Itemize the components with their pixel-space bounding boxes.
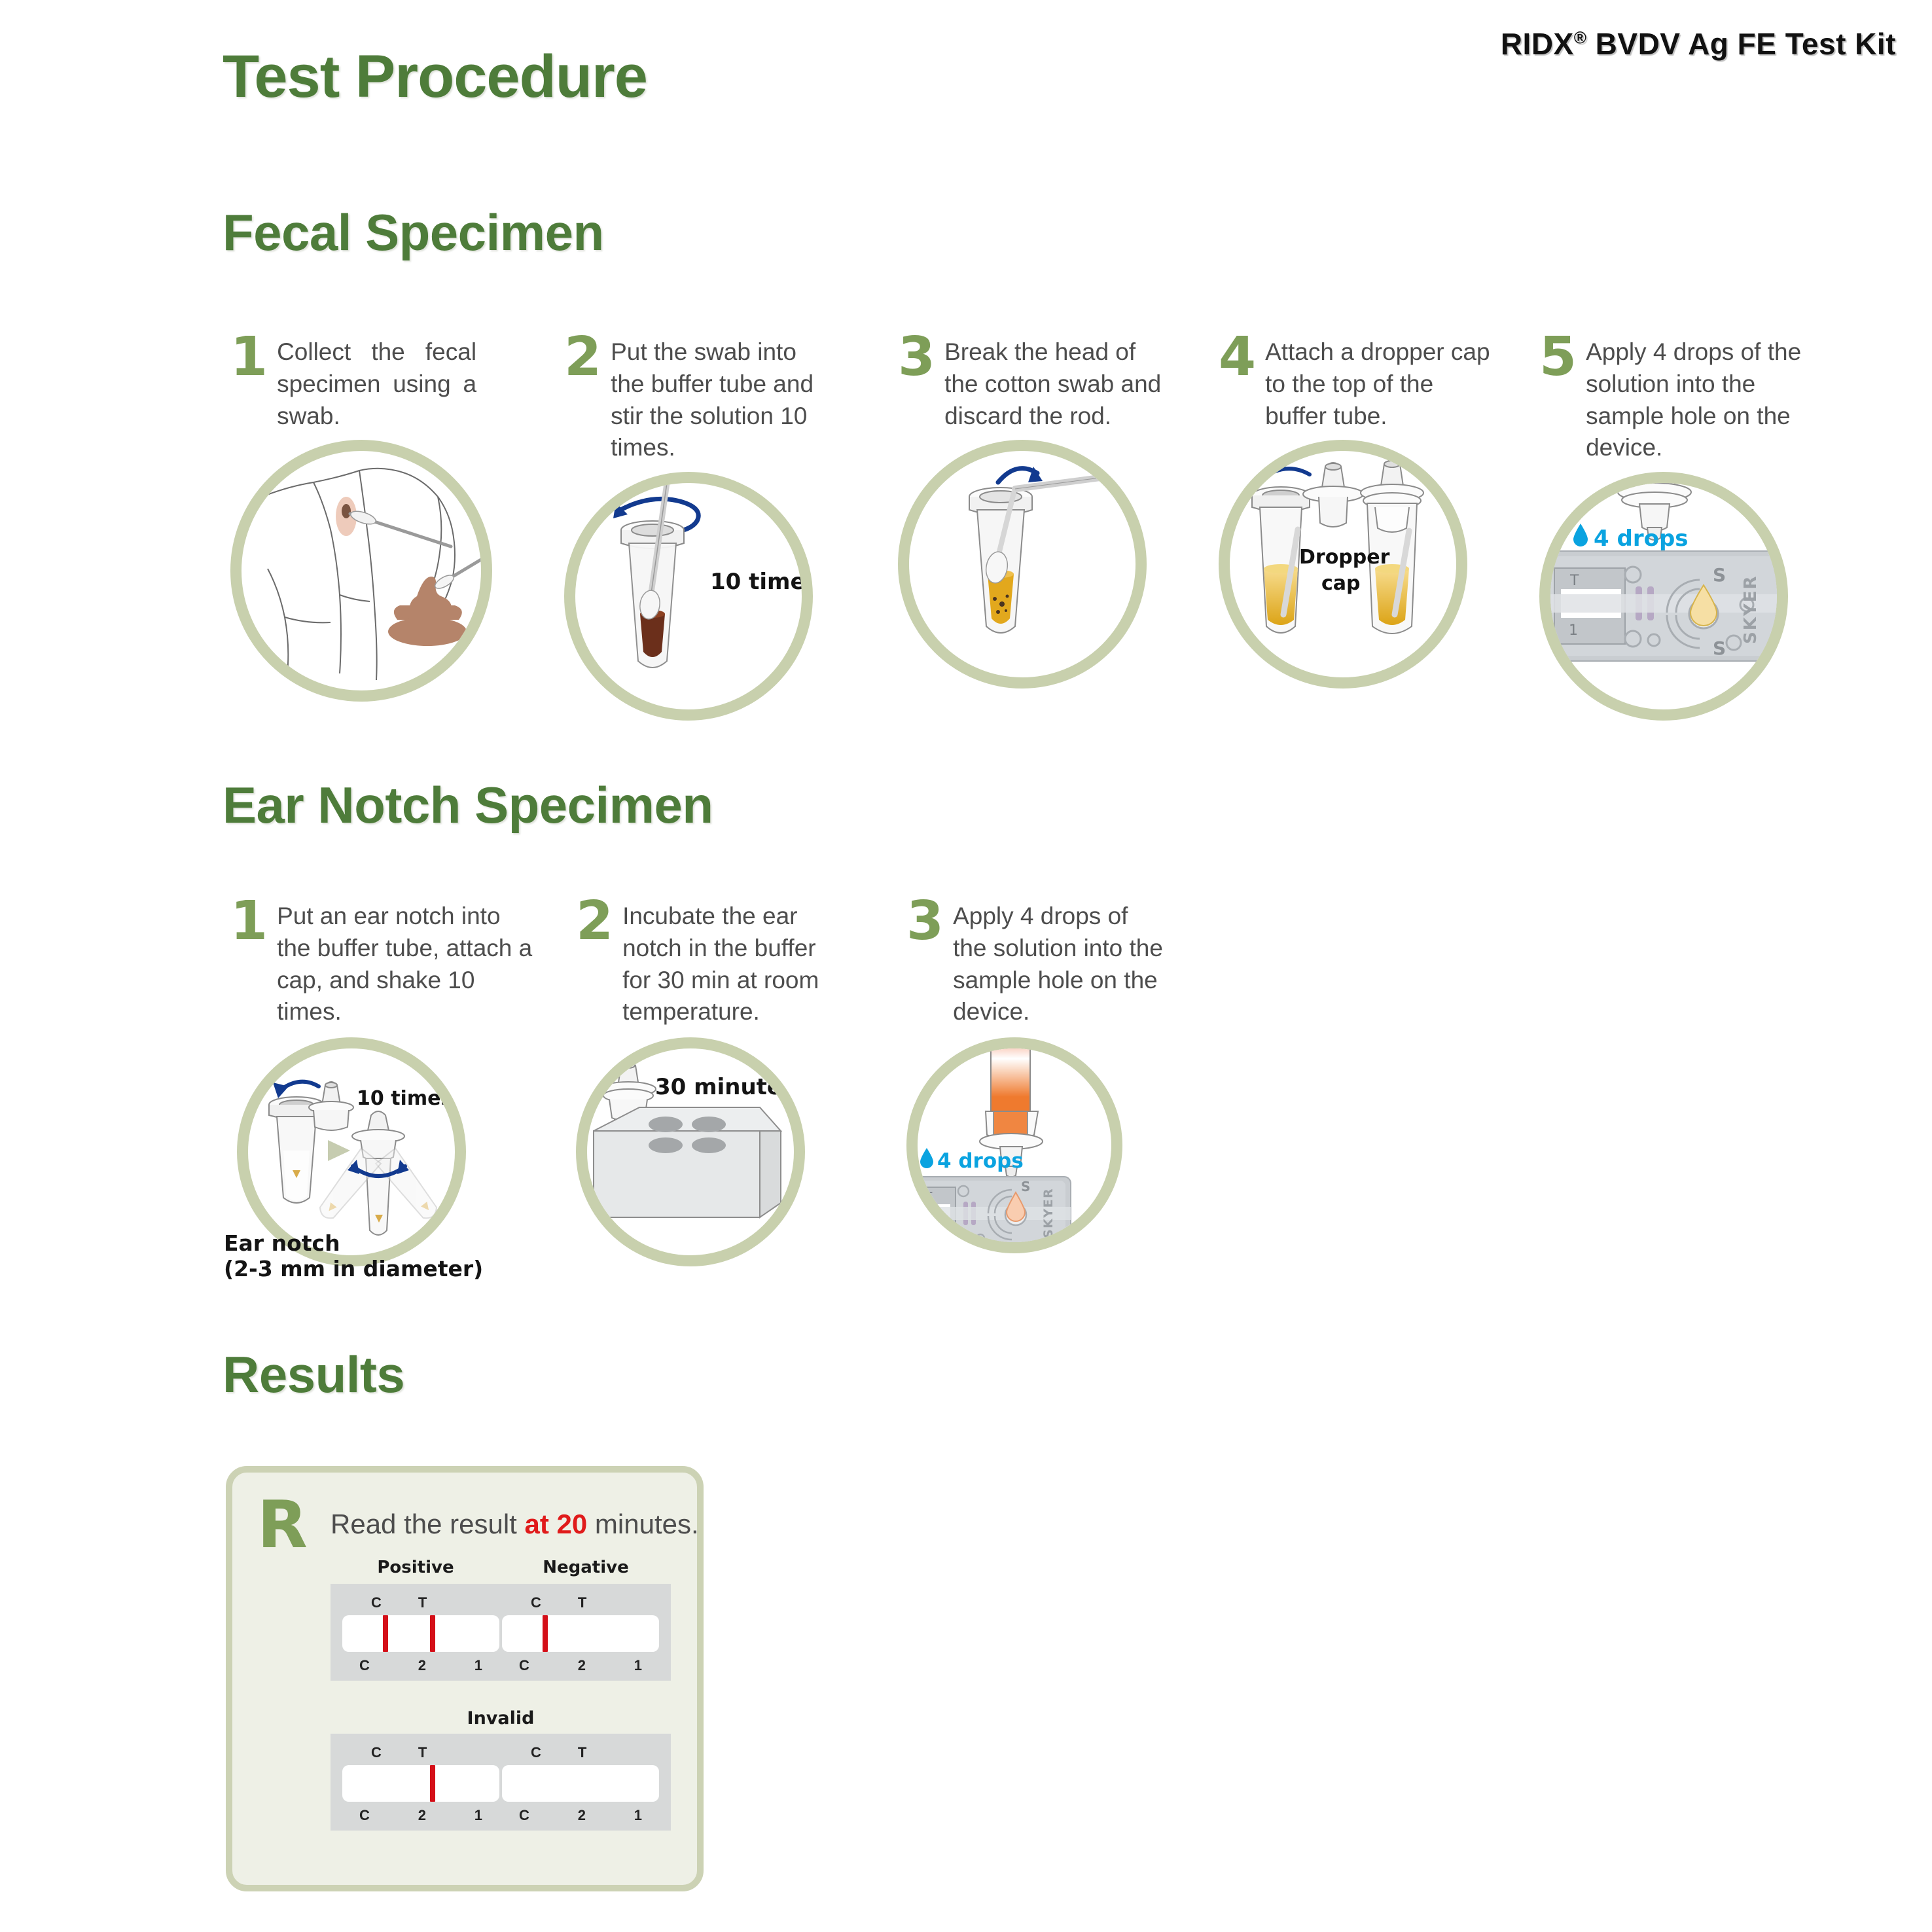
strip-label-c: C — [531, 1594, 541, 1611]
ear-notch-caption-line1: Ear notch — [224, 1230, 483, 1256]
badge-dropper: Dropper — [1299, 546, 1390, 569]
strip-bottom-c: C — [519, 1657, 529, 1674]
step-text: Collect the fecal specimen using a swab. — [277, 332, 476, 432]
illustration-apply-drops-ear: C T 2 1 — [906, 1037, 1122, 1253]
result-caption-negative: Negative — [507, 1558, 664, 1577]
device-test-label: T — [925, 1190, 933, 1204]
registered-icon: ® — [1574, 28, 1587, 48]
step-number: 1 — [230, 897, 268, 946]
result-caption-invalid: Invalid — [331, 1708, 671, 1728]
read-instruction: Read the result at 20 minutes. — [331, 1509, 699, 1540]
step-text: Break the head of the cotton swab and di… — [944, 332, 1166, 432]
step-number: 3 — [906, 897, 944, 946]
step-text: Apply 4 drops of the solution into the s… — [1586, 332, 1827, 464]
test-procedure-page: RIDX® BVDV Ag FE Test Kit Test Procedure… — [0, 0, 1932, 1932]
strip-bottom-1: 1 — [634, 1807, 642, 1824]
step-text: Attach a dropper cap to the top of the b… — [1265, 332, 1494, 432]
strip-window — [342, 1765, 499, 1802]
illustration-stir-swab: 10 times — [564, 472, 813, 721]
strip-window — [502, 1615, 659, 1652]
step-text: Put the swab into the buffer tube and st… — [611, 332, 826, 464]
strip-label-c: C — [531, 1744, 541, 1761]
svg-text:2: 2 — [923, 1227, 930, 1240]
strip-label-t: T — [578, 1594, 586, 1611]
strip-bottom-c: C — [519, 1807, 529, 1824]
badge-cap: cap — [1321, 572, 1361, 595]
stool-icon — [388, 560, 481, 646]
strip-bottom-1: 1 — [634, 1657, 642, 1674]
illustration-incubate: 30 minutes — [576, 1037, 805, 1266]
strip-label-t: T — [418, 1594, 427, 1611]
illustration-apply-drops-fecal: T 1 — [1539, 472, 1788, 721]
result-card-positive: C T C 2 1 — [342, 1594, 499, 1674]
step-text: Put an ear notch into the buffer tube, a… — [277, 897, 538, 1028]
strip-bottom-2: 2 — [578, 1807, 586, 1824]
strip-label-c: C — [371, 1594, 382, 1611]
ear-notch-caption-line2: (2-3 mm in diameter) — [224, 1256, 483, 1281]
step-text: Apply 4 drops of the solution into the s… — [953, 897, 1168, 1028]
device-brand: SKYER — [1741, 575, 1761, 644]
device-sample-mark-bottom: S — [1713, 637, 1726, 659]
ear-notch-step-2: 2 Incubate the ear notch in the buffer f… — [576, 897, 838, 1266]
fecal-step-5: 5 Apply 4 drops of the solution into the… — [1539, 332, 1827, 721]
device-sample-mark-top: S — [1713, 564, 1726, 586]
strip-bottom-2: 2 — [418, 1657, 426, 1674]
section-title-ear-notch: Ear Notch Specimen — [223, 776, 713, 835]
strip-window — [342, 1615, 499, 1652]
step-number: 2 — [576, 897, 613, 946]
results-row-1: Positive Negative C T C 2 1 — [331, 1558, 671, 1681]
result-card-invalid-a: C T C 2 1 — [342, 1744, 499, 1824]
strip-label-c: C — [371, 1744, 382, 1761]
read-post: minutes. — [587, 1509, 698, 1539]
svg-text:4 drops: 4 drops — [1594, 526, 1689, 552]
ear-notch-caption: Ear notch (2-3 mm in diameter) — [224, 1230, 483, 1281]
svg-text:1: 1 — [1569, 622, 1578, 639]
badge-10-times: 10 times — [357, 1087, 452, 1110]
section-title-results: Results — [223, 1345, 404, 1404]
illustration-collect-swab — [230, 440, 492, 702]
section-title-fecal: Fecal Specimen — [223, 203, 604, 262]
kit-title: RIDX® BVDV Ag FE Test Kit — [1501, 26, 1896, 62]
ear-notch-step-1: 1 Put an ear notch into the buffer tube,… — [230, 897, 538, 1266]
strip-bottom-1: 1 — [474, 1807, 482, 1824]
strip-label-t: T — [418, 1744, 427, 1761]
illustration-dropper-cap: Dropper cap — [1219, 440, 1467, 689]
result-card-negative: C T C 2 1 — [502, 1594, 659, 1674]
step-text: Incubate the ear notch in the buffer for… — [622, 897, 838, 1028]
svg-text:1: 1 — [940, 1227, 947, 1240]
results-panel: R Read the result at 20 minutes. Positiv… — [226, 1466, 704, 1891]
fecal-step-3: 3 Break the head of the cotton swab and … — [898, 332, 1166, 689]
attach-arrow-icon — [1259, 469, 1310, 482]
read-time-highlight: at 20 — [525, 1509, 588, 1539]
result-caption-positive: Positive — [337, 1558, 494, 1577]
step-number: 4 — [1219, 332, 1256, 382]
fecal-step-2: 2 Put the swab into the buffer tube and … — [564, 332, 826, 721]
kit-brand: RIDX — [1501, 27, 1574, 61]
step-number: 1 — [230, 332, 268, 382]
svg-text:4 drops: 4 drops — [937, 1149, 1024, 1173]
control-line — [383, 1615, 388, 1652]
step-number: 5 — [1539, 332, 1577, 382]
test-line — [430, 1765, 435, 1802]
kit-name: BVDV Ag FE Test Kit — [1586, 27, 1896, 61]
device-brand: SKYER — [1041, 1188, 1056, 1238]
svg-text:T: T — [1569, 573, 1579, 589]
illustration-break-swab — [898, 440, 1147, 689]
badge-30-minutes: 30 minutes — [655, 1074, 794, 1100]
strip-bottom-c: C — [359, 1807, 370, 1824]
ear-notch-step-3: 3 Apply 4 drops of the solution into the… — [906, 897, 1168, 1253]
strip-bottom-1: 1 — [474, 1657, 482, 1674]
results-row-2: Invalid C T C 2 1 — [331, 1708, 671, 1831]
fecal-step-4: 4 Attach a dropper cap to the top of the… — [1219, 332, 1494, 689]
read-pre: Read the result — [331, 1509, 525, 1539]
test-line — [430, 1615, 435, 1652]
step-number: 2 — [564, 332, 601, 382]
fecal-step-1: 1 Collect the fecal specimen using a swa… — [230, 332, 492, 702]
strip-window — [502, 1765, 659, 1802]
result-card-invalid-b: C T C 2 1 — [502, 1744, 659, 1824]
badge-10-times: 10 times — [710, 569, 802, 595]
badge-4-drops: 4 drops — [1573, 524, 1689, 552]
strip-bottom-c: C — [359, 1657, 370, 1674]
page-title: Test Procedure — [223, 43, 647, 111]
strip-bottom-2: 2 — [418, 1807, 426, 1824]
control-line — [543, 1615, 548, 1652]
results-letter: R — [257, 1492, 308, 1558]
badge-4-drops: 4 drops — [920, 1148, 1024, 1173]
next-arrow-icon — [328, 1140, 350, 1161]
strip-bottom-2: 2 — [578, 1657, 586, 1674]
svg-text:S: S — [1021, 1179, 1030, 1194]
step-number: 3 — [898, 332, 935, 382]
strip-label-t: T — [578, 1744, 586, 1761]
